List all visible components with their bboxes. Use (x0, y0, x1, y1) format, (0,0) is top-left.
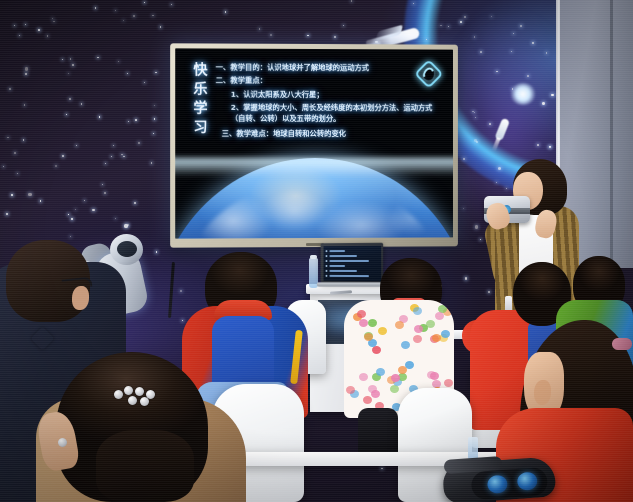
pearl-bead (124, 386, 133, 395)
slide-line-2: 二、教学重点： (216, 76, 443, 87)
pajama-pattern-dot (444, 379, 453, 387)
pajama-pattern-dot (346, 386, 355, 394)
laptop-screen[interactable] (323, 245, 381, 280)
slide-line-1: 一、教学目的：认识地球并了解地球的运动方式 (216, 63, 443, 74)
laptop-lid (321, 243, 384, 284)
pajama-pattern-dot (413, 307, 422, 315)
vtitle-char-0: 快 (193, 64, 207, 78)
laptop-screen-row (329, 269, 357, 271)
wall-tv[interactable]: 快 乐 学 习 一、教学目的：认识地球并了解地球的运动方式 二、教学重点： 1、… (170, 43, 458, 247)
slide-line-4: 2、掌握地球的大小、周长及经纬度的本初划分方法、运动方式（自转、公转）以及五带的… (216, 103, 443, 125)
hair-tie (612, 338, 632, 350)
classroom-photo: 快 乐 学 习 一、教学目的：认识地球并了解地球的运动方式 二、教学重点： 1、… (0, 0, 633, 502)
pajama-pattern-dot (359, 373, 368, 381)
presentation-slide: 快 乐 学 习 一、教学目的：认识地球并了解地球的运动方式 二、教学重点： 1、… (175, 48, 453, 238)
girl-red-coat-ear (534, 380, 551, 405)
pearl-bead (114, 390, 123, 399)
pajama-pattern-dot (364, 333, 373, 341)
laptop-screen-row (329, 254, 357, 256)
pajama-pattern-dot (368, 319, 377, 327)
slide-bullet-list: 一、教学目的：认识地球并了解地球的运动方式 二、教学重点： 1、认识太阳系及八大… (216, 62, 443, 176)
astronaut-visor (117, 241, 137, 257)
pajama-pattern-dot (378, 327, 387, 335)
laptop[interactable] (320, 243, 386, 295)
swirl-diamond-logo-icon (418, 63, 439, 84)
probe-trail (492, 137, 501, 151)
pajama-pattern-dot (395, 321, 404, 329)
laptop-screen-row (329, 250, 345, 252)
pajama-pattern-dot (390, 385, 399, 393)
pajama-pattern-dot (357, 310, 366, 318)
pajama-pattern-dot (401, 341, 410, 349)
slide-line-5: 三、教学难点：地球自转和公转的变化 (216, 129, 443, 139)
laptop-keyboard-base[interactable] (317, 282, 388, 286)
pajama-pattern-dot (371, 390, 380, 398)
pajama-pattern-dot (405, 361, 414, 369)
adult-man-ear (72, 286, 89, 310)
laptop-screen-row (329, 264, 345, 266)
vr-headset[interactable] (441, 450, 562, 502)
slide-vertical-title: 快 乐 学 习 (193, 62, 207, 176)
laptop-screen-bullet (325, 260, 327, 262)
laptop-screen-bullet (325, 255, 327, 257)
pajama-pattern-dot (441, 330, 450, 338)
laptop-screen-bullet (325, 274, 327, 276)
pajama-pattern-dot (398, 366, 407, 374)
slide-line-3: 1、认识太阳系及八大行星； (216, 89, 443, 100)
laptop-screen-bullet (325, 264, 327, 266)
laptop-screen-row (329, 274, 369, 276)
pearl-bead (128, 396, 137, 405)
pajama-pattern-dot (427, 371, 436, 379)
vtitle-char-2: 学 (193, 102, 207, 116)
vtitle-char-3: 习 (193, 121, 207, 135)
pajama-pattern-dot (435, 312, 444, 320)
pajama-pattern-dot (432, 334, 441, 342)
pearl-bead (135, 387, 144, 396)
tv-bezel: 快 乐 学 习 一、教学目的：认识地球并了解地球的运动方式 二、教学重点： 1、… (170, 43, 458, 247)
pajama-pattern-dot (363, 396, 372, 404)
laptop-screen-bullet (325, 250, 327, 252)
pajama-pattern-dot (359, 319, 368, 327)
slide-text-area: 快 乐 学 习 一、教学目的：认识地球并了解地球的运动方式 二、教学重点： 1、… (175, 48, 453, 175)
pearl-hair-clip (114, 386, 160, 404)
laptop-screen-row (329, 259, 369, 261)
vtitle-char-1: 乐 (193, 83, 207, 97)
ring (58, 438, 67, 447)
tv-screen[interactable]: 快 乐 学 习 一、教学目的：认识地球并了解地球的运动方式 二、教学重点： 1、… (175, 48, 453, 238)
pajama-pattern-dot (414, 325, 423, 333)
woman-ponytail (96, 430, 194, 502)
water-bottle-cap (310, 255, 317, 259)
wall-seam (610, 0, 613, 268)
pajama-pattern-dot (372, 346, 381, 354)
pajama-pattern-dot (413, 335, 422, 343)
laptop-screen-bullet (325, 269, 327, 271)
pearl-bead (140, 397, 149, 406)
pajama-pattern-dot (376, 368, 385, 376)
